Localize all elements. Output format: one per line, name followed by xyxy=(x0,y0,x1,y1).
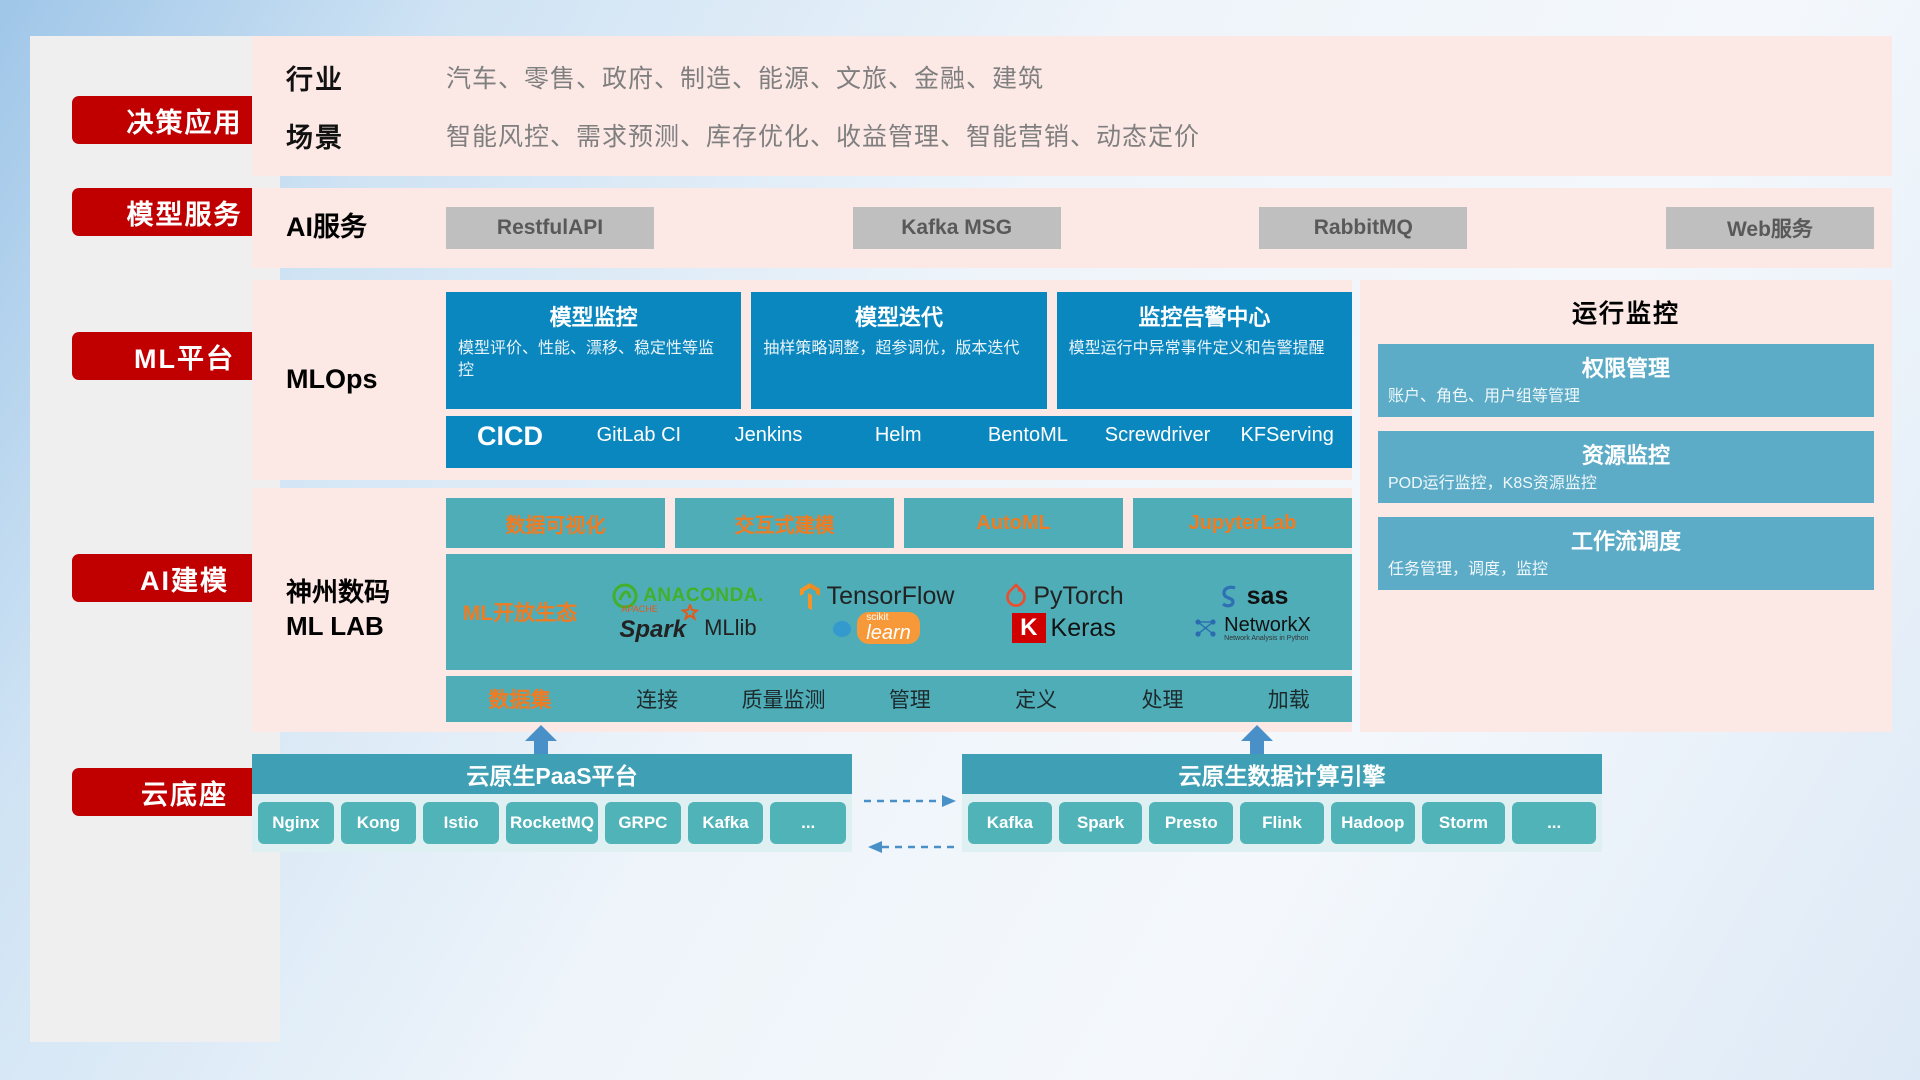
paas-pill-kong[interactable]: Kong xyxy=(341,802,417,844)
cloud-base-section: 云原生PaaS平台 Nginx Kong Istio RocketMQ GRPC… xyxy=(252,722,1892,1042)
mlops-label: MLOps xyxy=(286,292,446,468)
pytorch-wordmark: PyTorch xyxy=(1033,582,1123,611)
cicd-bar: CICD GitLab CI Jenkins Helm BentoML Scre… xyxy=(446,416,1352,468)
monitor-card-workflow[interactable]: 工作流调度 任务管理，调度，监控 xyxy=(1378,517,1874,590)
tool-chip-interactive-modeling[interactable]: 交互式建模 xyxy=(675,498,894,548)
runtime-monitoring-panel: 运行监控 权限管理 账户、角色、用户组等管理 资源监控 POD运行监控，K8S资… xyxy=(1360,280,1892,732)
paas-pill-kafka[interactable]: Kafka xyxy=(688,802,764,844)
ml-open-ecosystem-row: ML开放生态 ANACONDA. TensorFlo xyxy=(446,554,1352,670)
dataset-item-quality[interactable]: 质量监测 xyxy=(720,684,846,714)
tool-chip-data-visualization[interactable]: 数据可视化 xyxy=(446,498,665,548)
ai-modeling-band: 神州数码 ML LAB 数据可视化 交互式建模 AutoML JupyterLa… xyxy=(252,488,1352,732)
ml-open-ecosystem-label: ML开放生态 xyxy=(446,597,594,627)
paas-pill-more[interactable]: ... xyxy=(770,802,846,844)
dataset-item-load[interactable]: 加载 xyxy=(1226,684,1352,714)
networkx-wordmark: NetworkX xyxy=(1224,615,1311,635)
card-title: 权限管理 xyxy=(1388,351,1864,383)
pytorch-logo[interactable]: PyTorch xyxy=(1004,582,1123,611)
mllib-wordmark: MLlib xyxy=(704,615,757,641)
networkx-icon xyxy=(1193,616,1219,640)
keras-icon: K xyxy=(1012,613,1045,643)
tensorflow-wordmark: TensorFlow xyxy=(827,582,955,611)
arrow-right-dashed xyxy=(864,794,960,808)
engine-pill-kafka[interactable]: Kafka xyxy=(968,802,1052,844)
card-desc: POD运行监控，K8S资源监控 xyxy=(1388,473,1864,495)
paas-title: 云原生PaaS平台 xyxy=(252,754,852,794)
card-desc: 账户、角色、用户组等管理 xyxy=(1388,386,1864,408)
monitor-card-permissions[interactable]: 权限管理 账户、角色、用户组等管理 xyxy=(1378,344,1874,417)
tool-chip-automl[interactable]: AutoML xyxy=(904,498,1123,548)
paas-pill-nginx[interactable]: Nginx xyxy=(258,802,334,844)
tensorflow-logo[interactable]: TensorFlow xyxy=(798,582,955,611)
dataset-item-connect[interactable]: 连接 xyxy=(594,684,720,714)
scikit-learn-badge: scikit learn xyxy=(857,612,919,644)
networkx-tagline: Network Analysis in Python xyxy=(1224,635,1311,642)
ai-chip-rabbitmq[interactable]: RabbitMQ xyxy=(1259,207,1467,249)
card-title: 模型迭代 xyxy=(763,300,1034,332)
mlops-card-alert-center[interactable]: 监控告警中心 模型运行中异常事件定义和告警提醒 xyxy=(1057,292,1352,409)
ai-service-label: AI服务 xyxy=(286,211,446,245)
apache-wordmark: APACHE xyxy=(621,604,657,614)
layer-rail: 决策应用 模型服务 ML平台 AI建模 云底座 xyxy=(30,36,280,1042)
cicd-item-helm[interactable]: Helm xyxy=(833,421,963,450)
card-title: 资源监控 xyxy=(1388,438,1864,470)
paas-pill-grpc[interactable]: GRPC xyxy=(605,802,681,844)
data-engine-card: 云原生数据计算引擎 Kafka Spark Presto Flink Hadoo… xyxy=(962,754,1602,852)
networkx-logo[interactable]: NetworkX Network Analysis in Python xyxy=(1193,615,1311,642)
card-title: 监控告警中心 xyxy=(1069,300,1340,332)
data-engine-title: 云原生数据计算引擎 xyxy=(962,754,1602,794)
ai-chip-restfulapi[interactable]: RestfulAPI xyxy=(446,207,654,249)
paas-card: 云原生PaaS平台 Nginx Kong Istio RocketMQ GRPC… xyxy=(252,754,852,852)
card-title: 工作流调度 xyxy=(1388,524,1864,556)
dataset-item-process[interactable]: 处理 xyxy=(1099,684,1225,714)
engine-pill-spark[interactable]: Spark xyxy=(1059,802,1143,844)
scikit-learn-logo[interactable]: scikit learn xyxy=(832,612,919,644)
ai-chip-web-service[interactable]: Web服务 xyxy=(1666,207,1874,249)
card-desc: 模型运行中异常事件定义和告警提醒 xyxy=(1069,338,1340,360)
sas-icon xyxy=(1216,583,1242,609)
spark-mllib-logo[interactable]: APACHE Spark MLlib xyxy=(619,613,756,644)
industry-label: 行业 xyxy=(286,58,446,97)
data-engine-pill-list: Kafka Spark Presto Flink Hadoop Storm ..… xyxy=(962,794,1602,852)
dataset-item-manage[interactable]: 管理 xyxy=(847,684,973,714)
learn-wordmark: learn xyxy=(866,623,910,643)
paas-pill-rocketmq[interactable]: RocketMQ xyxy=(506,802,598,844)
mlops-card-list: 模型监控 模型评价、性能、漂移、稳定性等监控 模型迭代 抽样策略调整，超参调优，… xyxy=(446,292,1352,409)
card-desc: 模型评价、性能、漂移、稳定性等监控 xyxy=(458,338,729,381)
industry-values: 汽车、零售、政府、制造、能源、文旅、金融、建筑 xyxy=(446,59,1892,95)
engine-pill-presto[interactable]: Presto xyxy=(1149,802,1233,844)
industry-scenario-band: 行业 汽车、零售、政府、制造、能源、文旅、金融、建筑 场景 智能风控、需求预测、… xyxy=(252,36,1892,176)
keras-wordmark: Keras xyxy=(1051,614,1116,643)
tensorflow-icon xyxy=(798,582,822,610)
arrow-left-dashed xyxy=(864,840,960,854)
card-desc: 抽样策略调整，超参调优，版本迭代 xyxy=(763,338,1034,360)
card-desc: 任务管理，调度，监控 xyxy=(1388,559,1864,581)
mlops-card-model-iteration[interactable]: 模型迭代 抽样策略调整，超参调优，版本迭代 xyxy=(751,292,1046,409)
arrow-up-paas xyxy=(524,724,558,758)
ml-lab-label: 神州数码 ML LAB xyxy=(286,498,446,722)
scenario-label: 场景 xyxy=(286,116,446,155)
ai-chip-kafka-msg[interactable]: Kafka MSG xyxy=(853,207,1061,249)
sas-wordmark: sas xyxy=(1247,582,1289,611)
cicd-item-kfserving[interactable]: KFServing xyxy=(1222,421,1352,450)
spark-wordmark: Spark xyxy=(619,616,686,643)
dataset-row: 数据集 连接 质量监测 管理 定义 处理 加载 xyxy=(446,676,1352,722)
spark-icon: APACHE Spark xyxy=(619,613,686,644)
cicd-item-jenkins[interactable]: Jenkins xyxy=(704,421,834,450)
engine-pill-more[interactable]: ... xyxy=(1512,802,1596,844)
engine-pill-storm[interactable]: Storm xyxy=(1422,802,1506,844)
pytorch-icon xyxy=(1004,583,1028,609)
tool-chip-jupyterlab[interactable]: JupyterLab xyxy=(1133,498,1352,548)
cicd-label: CICD xyxy=(446,421,574,452)
keras-logo[interactable]: K Keras xyxy=(1012,613,1116,643)
ecosystem-logo-grid: ANACONDA. TensorFlow PyT xyxy=(594,580,1352,644)
ai-service-chip-list: RestfulAPI Kafka MSG RabbitMQ Web服务 xyxy=(446,207,1892,249)
engine-pill-hadoop[interactable]: Hadoop xyxy=(1331,802,1415,844)
ml-lab-label-line1: 神州数码 xyxy=(286,576,390,610)
arrow-up-data-engine xyxy=(1240,724,1274,758)
scenario-values: 智能风控、需求预测、库存优化、收益管理、智能营销、动态定价 xyxy=(446,117,1892,153)
dataset-item-define[interactable]: 定义 xyxy=(973,684,1099,714)
cicd-item-bentoml[interactable]: BentoML xyxy=(963,421,1093,450)
cicd-item-screwdriver[interactable]: Screwdriver xyxy=(1093,421,1223,450)
ai-service-band: AI服务 RestfulAPI Kafka MSG RabbitMQ Web服务 xyxy=(252,188,1892,268)
modeling-tool-list: 数据可视化 交互式建模 AutoML JupyterLab xyxy=(446,498,1352,548)
runtime-monitoring-title: 运行监控 xyxy=(1360,280,1892,330)
sas-logo[interactable]: sas xyxy=(1216,582,1289,611)
mlops-card-model-monitoring[interactable]: 模型监控 模型评价、性能、漂移、稳定性等监控 xyxy=(446,292,741,409)
ml-lab-label-line2: ML LAB xyxy=(286,610,390,644)
mlops-band: MLOps 模型监控 模型评价、性能、漂移、稳定性等监控 模型迭代 抽样策略调整… xyxy=(252,280,1352,480)
dataset-label: 数据集 xyxy=(446,684,594,714)
engine-pill-flink[interactable]: Flink xyxy=(1240,802,1324,844)
monitor-card-resources[interactable]: 资源监控 POD运行监控，K8S资源监控 xyxy=(1378,431,1874,504)
paas-pill-istio[interactable]: Istio xyxy=(423,802,499,844)
card-title: 模型监控 xyxy=(458,300,729,332)
anaconda-wordmark: ANACONDA. xyxy=(643,585,764,607)
paas-pill-list: Nginx Kong Istio RocketMQ GRPC Kafka ... xyxy=(252,794,852,852)
cicd-item-gitlab-ci[interactable]: GitLab CI xyxy=(574,421,704,450)
